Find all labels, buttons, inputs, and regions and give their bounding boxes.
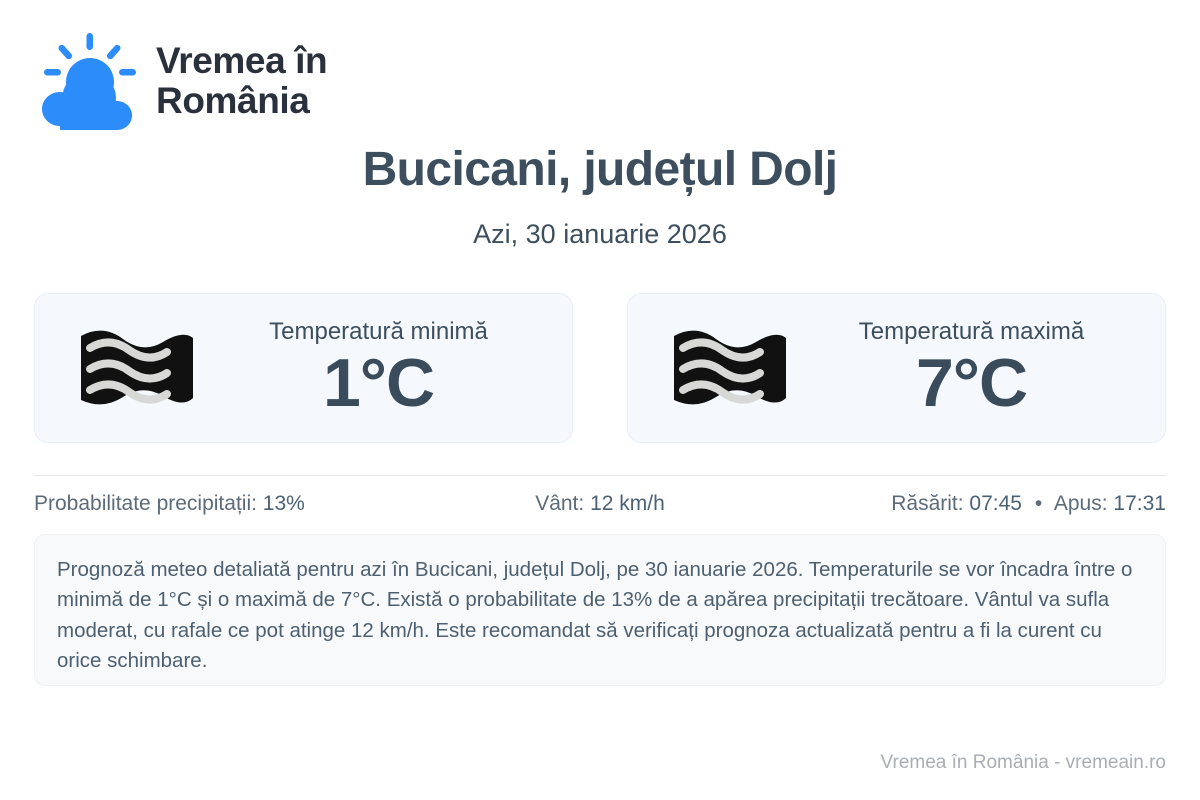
- stats-row: Probabilitate precipitații: 13% Vânt: 12…: [34, 492, 1166, 516]
- wind-label: Vânt:: [535, 492, 584, 515]
- card-max-label: Temperatură maximă: [859, 318, 1084, 347]
- sunrise-label: Răsărit:: [891, 492, 963, 515]
- weather-page: Vremea în România Bucicani, județul Dolj…: [0, 0, 1200, 800]
- precipitation-label: Probabilitate precipitații:: [34, 492, 257, 515]
- stat-sun-times: Răsărit: 07:45 • Apus: 17:31: [789, 492, 1166, 516]
- stat-precipitation: Probabilitate precipitații: 13%: [34, 492, 411, 516]
- sun-separator-dot: •: [1028, 492, 1049, 516]
- forecast-description-panel: Prognoză meteo detaliată pentru azi în B…: [34, 534, 1166, 686]
- wind-value: 12 km/h: [590, 492, 665, 515]
- precipitation-value: 13%: [263, 492, 305, 515]
- sunset-label: Apus:: [1054, 492, 1108, 515]
- card-min-value: 1°C: [323, 349, 434, 418]
- fog-waves-icon: [664, 330, 794, 406]
- sunrise-value: 07:45: [969, 492, 1022, 515]
- sun-behind-cloud-icon: [34, 32, 138, 130]
- card-min-temperature: Temperatură minimă 1°C: [34, 293, 573, 443]
- card-min-label: Temperatură minimă: [269, 318, 488, 347]
- brand-header: Vremea în România: [34, 0, 1166, 112]
- stat-wind: Vânt: 12 km/h: [411, 492, 788, 516]
- temperature-cards: Temperatură minimă 1°C Temperatură maxim…: [34, 293, 1166, 443]
- card-min-body: Temperatură minimă 1°C: [227, 318, 556, 418]
- footer-attribution: Vremea în România - vremeain.ro: [881, 752, 1166, 774]
- brand-name: Vremea în România: [156, 41, 327, 121]
- page-subtitle: Azi, 30 ianuarie 2026: [34, 219, 1166, 250]
- section-divider: [34, 475, 1166, 476]
- sunset-value: 17:31: [1113, 492, 1166, 515]
- fog-waves-icon: [71, 330, 201, 406]
- card-max-value: 7°C: [916, 349, 1027, 418]
- card-max-body: Temperatură maximă 7°C: [820, 318, 1149, 418]
- forecast-description-text: Prognoză meteo detaliată pentru azi în B…: [57, 555, 1143, 677]
- card-max-temperature: Temperatură maximă 7°C: [627, 293, 1166, 443]
- page-title: Bucicani, județul Dolj: [34, 144, 1166, 197]
